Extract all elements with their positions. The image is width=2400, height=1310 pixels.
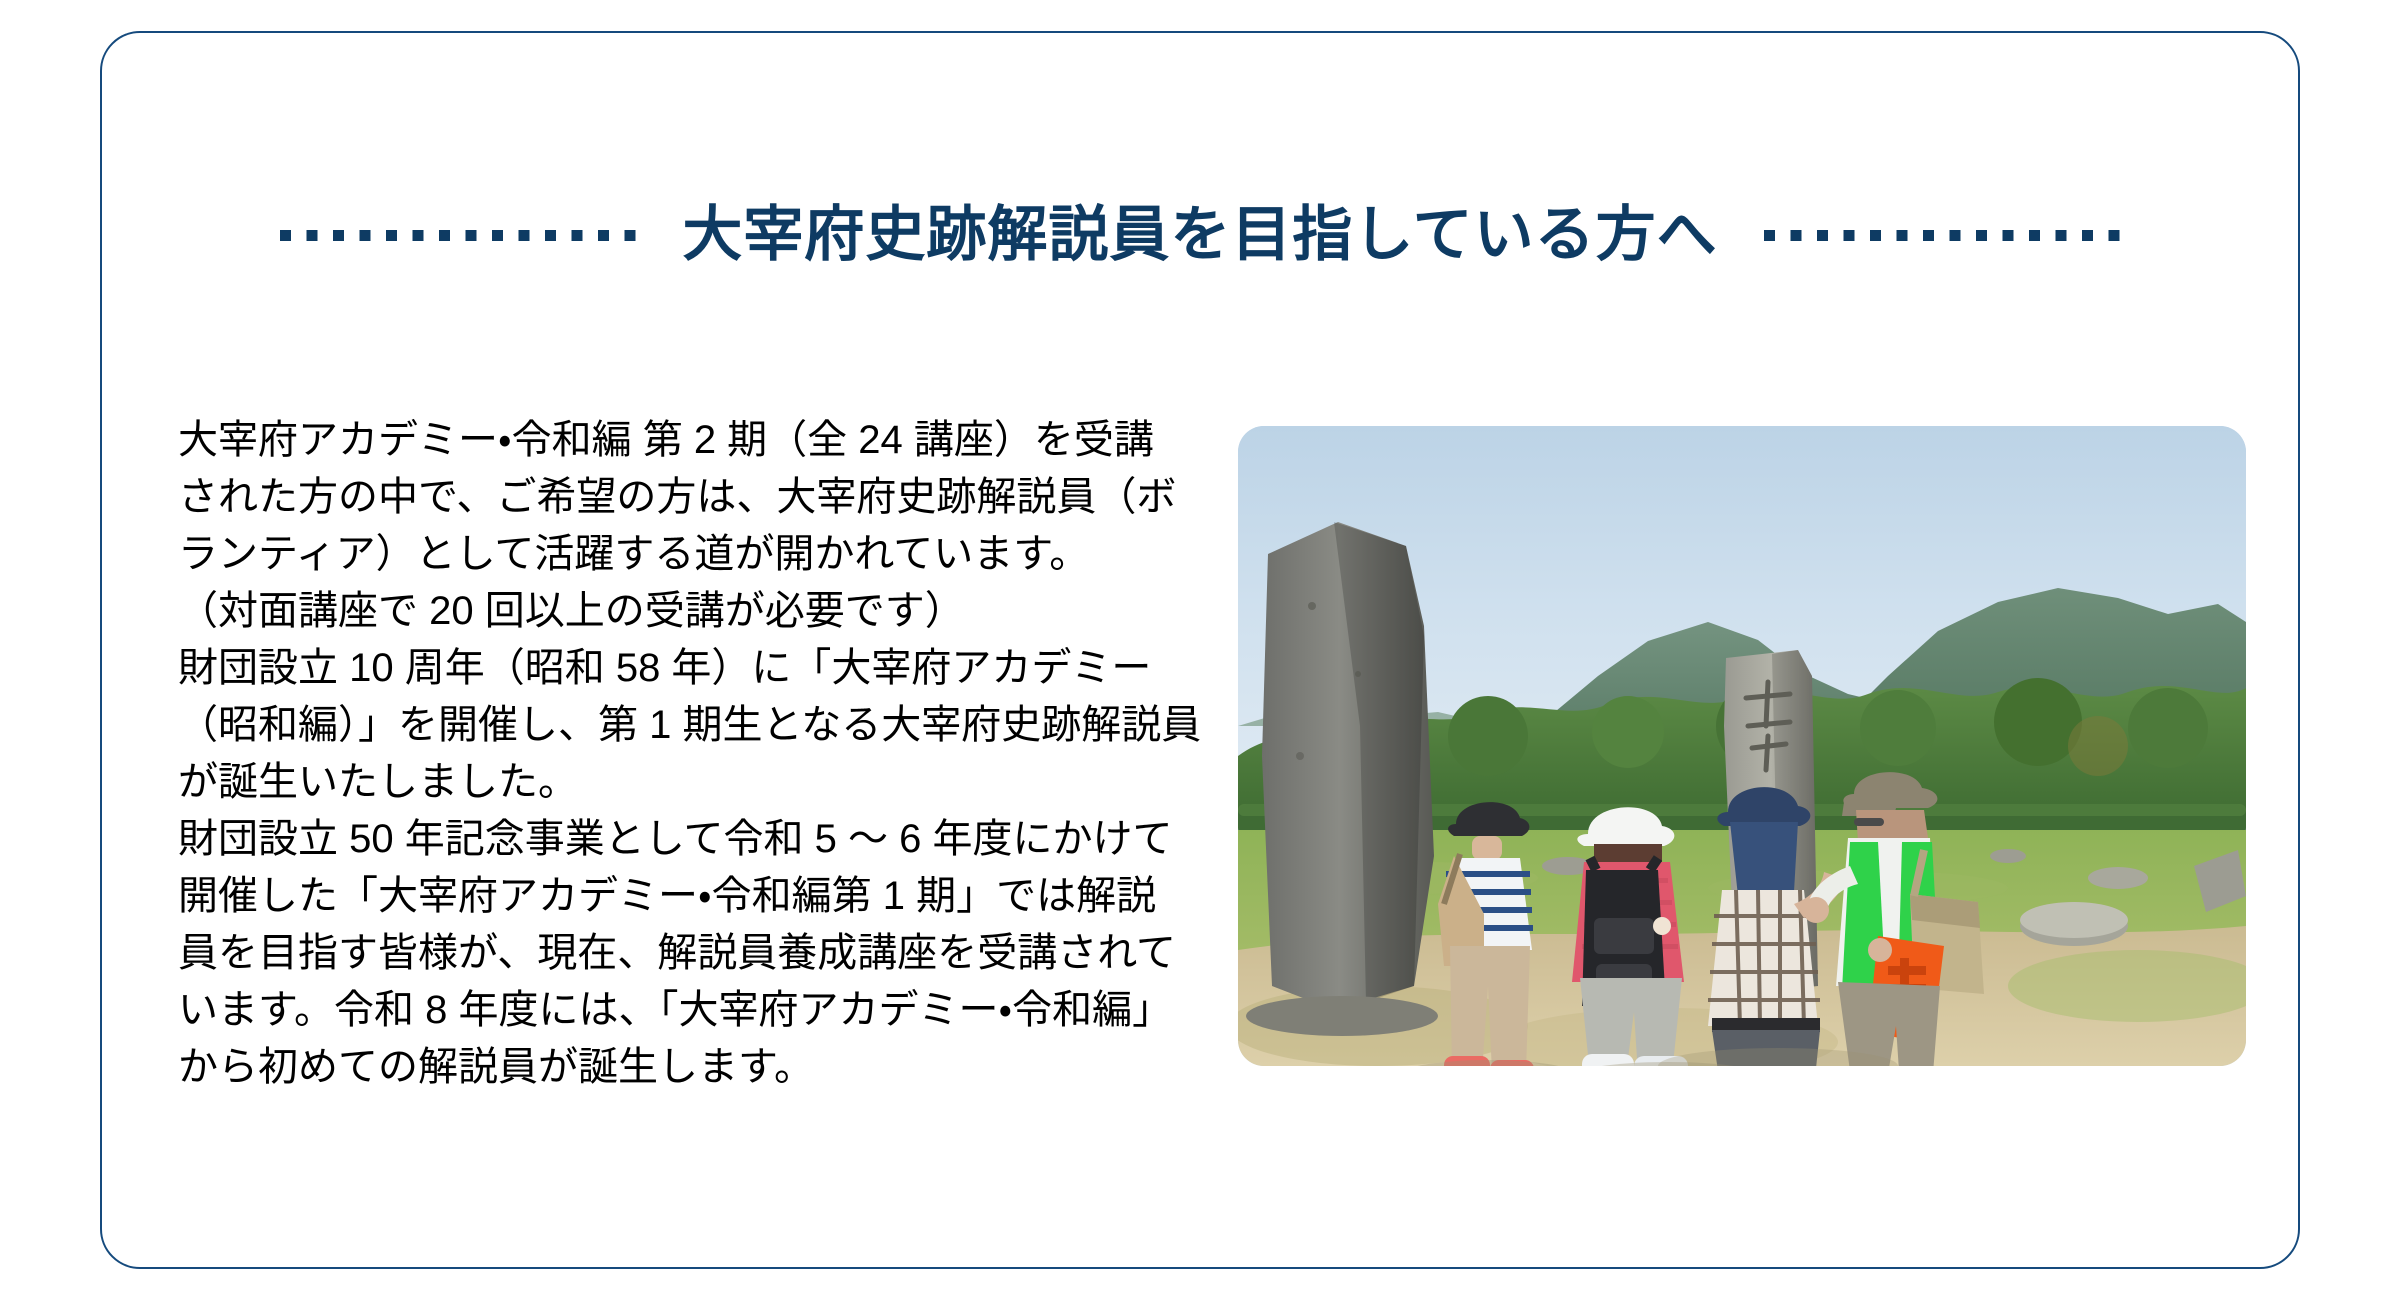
site-tour-photo bbox=[1238, 426, 2246, 1066]
body-paragraph-2: 財団設立 10 周年（昭和 58 年）に「大宰府アカデミー （昭和編）」を開催し… bbox=[178, 640, 1208, 811]
body-text-block: 大宰府アカデミー・令和編 第 2 期（全 24 講座）を受講 された方の中で、ご… bbox=[178, 412, 1208, 1096]
body-paragraph-1: 大宰府アカデミー・令和編 第 2 期（全 24 講座）を受講 された方の中で、ご… bbox=[178, 412, 1208, 640]
page-title: 大宰府史跡解説員を目指している方へ bbox=[682, 205, 1717, 265]
dotted-rule-right-icon bbox=[1764, 230, 2120, 241]
content-area: 大宰府アカデミー・令和編 第 2 期（全 24 講座）を受講 された方の中で、ご… bbox=[100, 400, 2300, 1120]
site-tour-photo-illustration bbox=[1238, 426, 2246, 1066]
body-paragraph-3: 財団設立 50 年記念事業として令和 5 〜 6 年度にかけて 開催した「大宰府… bbox=[178, 811, 1208, 1096]
dotted-rule-left-icon bbox=[280, 230, 636, 241]
title-row: 大宰府史跡解説員を目指している方へ bbox=[100, 170, 2300, 300]
